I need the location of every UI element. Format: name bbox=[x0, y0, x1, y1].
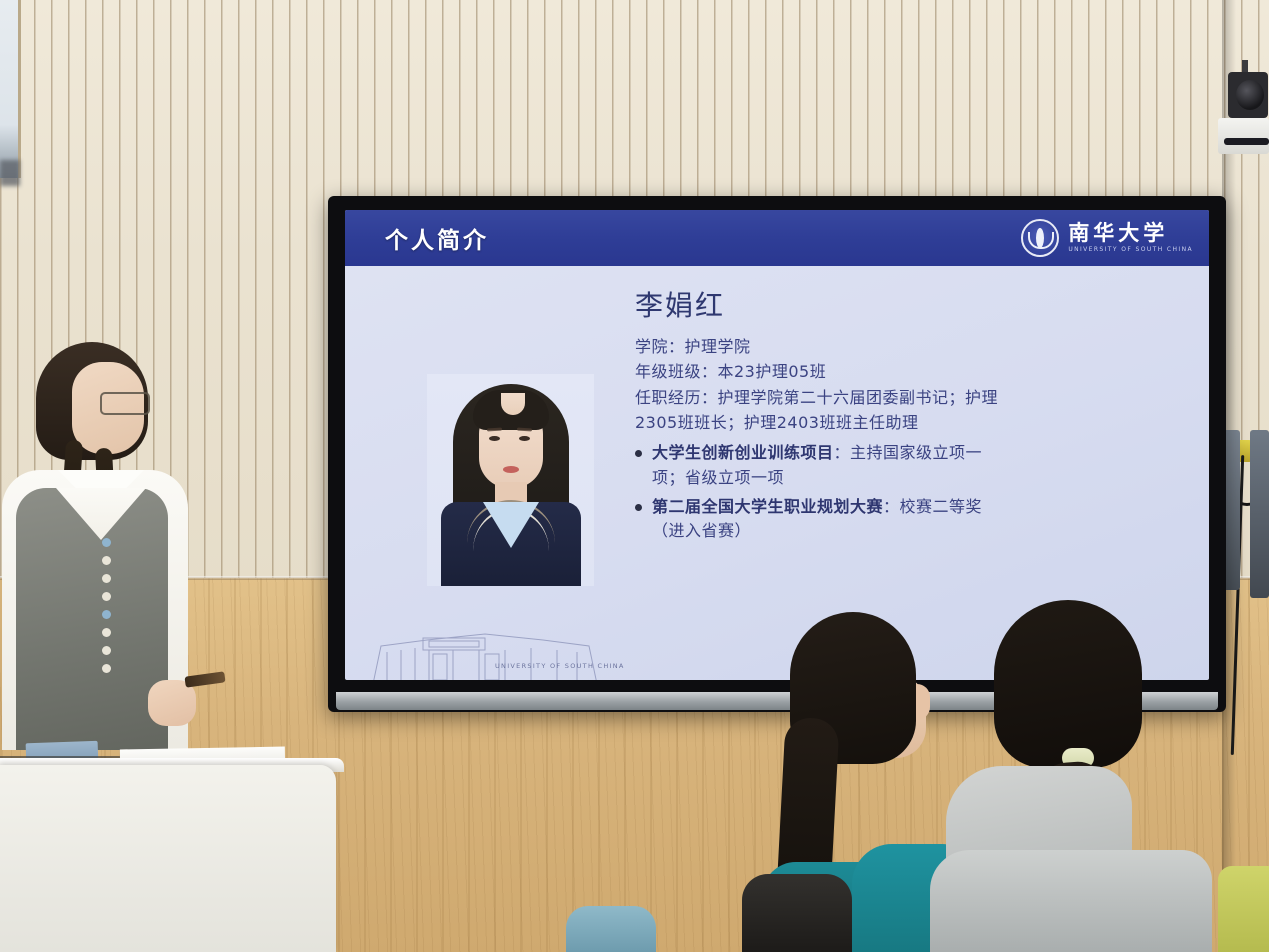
portrait-lips bbox=[503, 466, 519, 473]
list-item: 大学生创新创业训练项目：主持国家级立项一项；省级立项一项 bbox=[635, 441, 1175, 491]
field-college: 学院：护理学院 bbox=[635, 334, 1175, 359]
slide-body-text: 李娟红 学院：护理学院 年级班级：本23护理05班 任职经历：护理学院第二十六届… bbox=[635, 284, 1175, 544]
student2-head bbox=[994, 600, 1142, 768]
portrait-fringe bbox=[473, 390, 549, 430]
person-name: 李娟红 bbox=[635, 284, 1175, 324]
foreground-person-head bbox=[742, 874, 852, 952]
whiteboard-corner-shadow bbox=[0, 160, 20, 186]
camera-lens-icon bbox=[1236, 80, 1264, 110]
bullet-dot-icon bbox=[635, 450, 642, 457]
student2-body bbox=[930, 850, 1212, 952]
bullet-text: 大学生创新创业训练项目：主持国家级立项一项；省级立项一项 bbox=[652, 441, 982, 491]
university-name-en: UNIVERSITY OF SOUTH CHINA bbox=[1068, 247, 1193, 253]
bullet-sep-2: ： bbox=[883, 497, 900, 516]
portrait-eye-right bbox=[519, 436, 530, 441]
whiteboard-edge bbox=[0, 0, 21, 178]
id-portrait-photo bbox=[427, 374, 594, 586]
university-name-cn: 南华大学 bbox=[1068, 223, 1193, 244]
foreground-green-item bbox=[1218, 866, 1269, 952]
wall-speaker-right bbox=[1250, 430, 1269, 598]
bullet-cont-2: （进入省赛） bbox=[652, 521, 751, 540]
bullet-bold-1: 大学生创新创业训练项目 bbox=[652, 443, 834, 462]
camera-slot bbox=[1224, 138, 1269, 145]
achievement-bullets: 大学生创新创业训练项目：主持国家级立项一项；省级立项一项 第二届全国大学生职业规… bbox=[635, 441, 1175, 544]
gate-caption: UNIVERSITY OF SOUTH CHINA bbox=[495, 662, 625, 670]
bullet-text: 第二届全国大学生职业规划大赛：校赛二等奖（进入省赛） bbox=[652, 495, 982, 545]
presenter-glasses bbox=[100, 392, 150, 415]
presenter-vest-buttons bbox=[101, 538, 112, 724]
bullet-rest-2: 校赛二等奖 bbox=[900, 497, 983, 516]
field-class: 年级班级：本23护理05班 bbox=[635, 359, 1175, 384]
list-item: 第二届全国大学生职业规划大赛：校赛二等奖（进入省赛） bbox=[635, 495, 1175, 545]
classroom-scene: 个人简介 南华大学 UNIVERSITY OF SOUTH CHINA bbox=[0, 0, 1269, 952]
presentation-clicker[interactable] bbox=[184, 671, 225, 687]
university-name-block: 南华大学 UNIVERSITY OF SOUTH CHINA bbox=[1068, 223, 1193, 253]
bullet-cont-1: 项；省级立项一项 bbox=[652, 468, 784, 487]
slide-title: 个人简介 bbox=[385, 221, 489, 255]
bullet-rest-1: 主持国家级立项一 bbox=[850, 443, 982, 462]
field-roles-line1: 任职经历：护理学院第二十六届团委副书记；护理 bbox=[635, 385, 1175, 410]
presenter-speaker bbox=[0, 330, 250, 790]
slide-header: 个人简介 南华大学 UNIVERSITY OF SOUTH CHINA bbox=[345, 210, 1209, 266]
bullet-bold-2: 第二届全国大学生职业规划大赛 bbox=[652, 497, 883, 516]
podium-desk bbox=[0, 765, 336, 952]
university-emblem-icon bbox=[1021, 219, 1059, 257]
foreground-chair-back bbox=[566, 906, 656, 952]
university-brand: 南华大学 UNIVERSITY OF SOUTH CHINA bbox=[1021, 219, 1193, 257]
student-gray-hoodie bbox=[958, 600, 1228, 952]
camera-shelf bbox=[1218, 118, 1269, 154]
field-roles-line2: 2305班班长；护理2403班班主任助理 bbox=[635, 410, 1175, 435]
portrait-eye-left bbox=[489, 436, 500, 441]
bullet-dot-icon bbox=[635, 504, 642, 511]
campus-gate-line-art bbox=[367, 628, 617, 680]
bullet-sep-1: ： bbox=[834, 443, 851, 462]
